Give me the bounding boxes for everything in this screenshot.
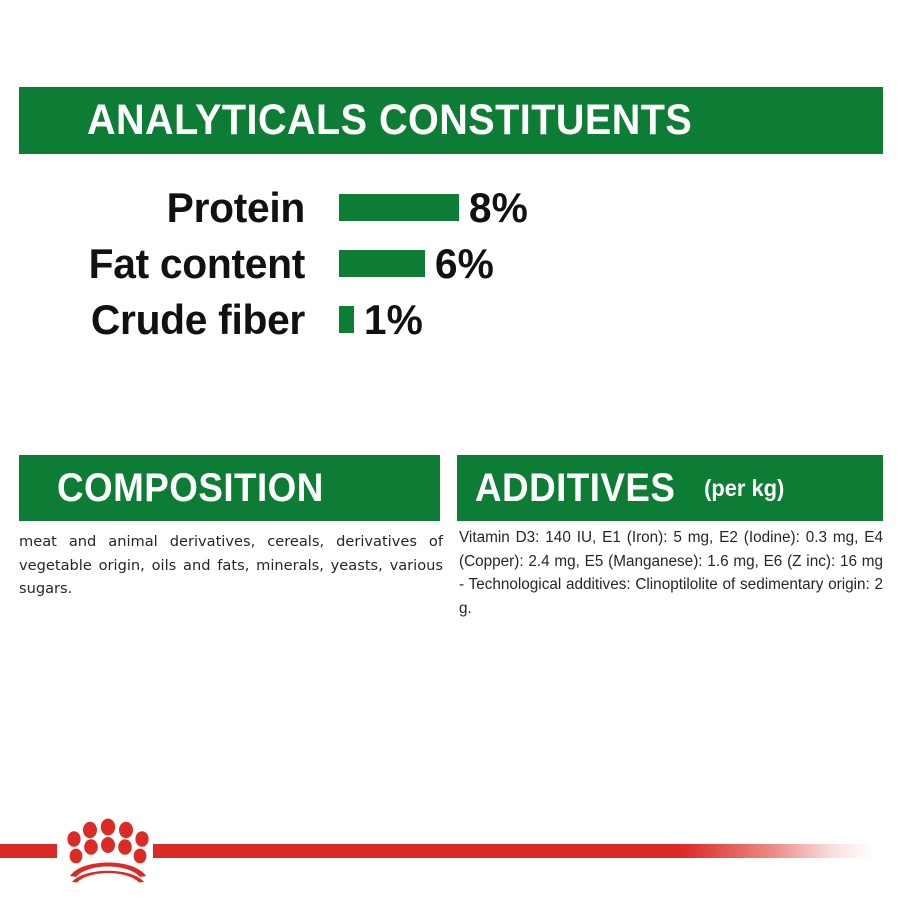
chart-row-value: 8% (469, 187, 528, 229)
footer-band-right (153, 844, 900, 858)
footer-band-left (0, 844, 57, 858)
composition-text: meat and animal derivatives, cereals, de… (19, 530, 443, 601)
chart-row-label: Protein (9, 187, 305, 229)
chart-row: Crude fiber 1% (0, 292, 900, 347)
royal-canin-crown-icon (60, 818, 156, 884)
additives-text: Vitamin D3: 140 IU, E1 (Iron): 5 mg, E2 … (459, 526, 883, 620)
nutrition-bar-chart: Protein 8% Fat content 6% Crude fiber 1% (0, 180, 900, 345)
chart-row-value: 6% (435, 243, 494, 285)
chart-row-label: Fat content (9, 243, 305, 285)
chart-row-label: Crude fiber (9, 299, 305, 341)
chart-bar (339, 306, 354, 333)
chart-row: Protein 8% (0, 180, 900, 235)
additives-subtitle: (per kg) (704, 477, 784, 500)
chart-bar-wrapper: 1% (339, 299, 424, 341)
chart-bar (339, 194, 459, 221)
analyticals-constituents-banner: ANALYTICALS CONSTITUENTS (19, 87, 883, 154)
analyticals-constituents-title: ANALYTICALS CONSTITUENTS (87, 99, 692, 142)
additives-banner: ADDITIVES (per kg) (457, 455, 883, 521)
composition-title: COMPOSITION (57, 468, 324, 508)
additives-title: ADDITIVES (475, 468, 675, 508)
chart-bar-wrapper: 6% (339, 243, 495, 285)
chart-bar (339, 250, 425, 277)
chart-bar-wrapper: 8% (339, 187, 529, 229)
composition-banner: COMPOSITION (19, 455, 440, 521)
chart-row-value: 1% (364, 299, 423, 341)
chart-row: Fat content 6% (0, 236, 900, 291)
